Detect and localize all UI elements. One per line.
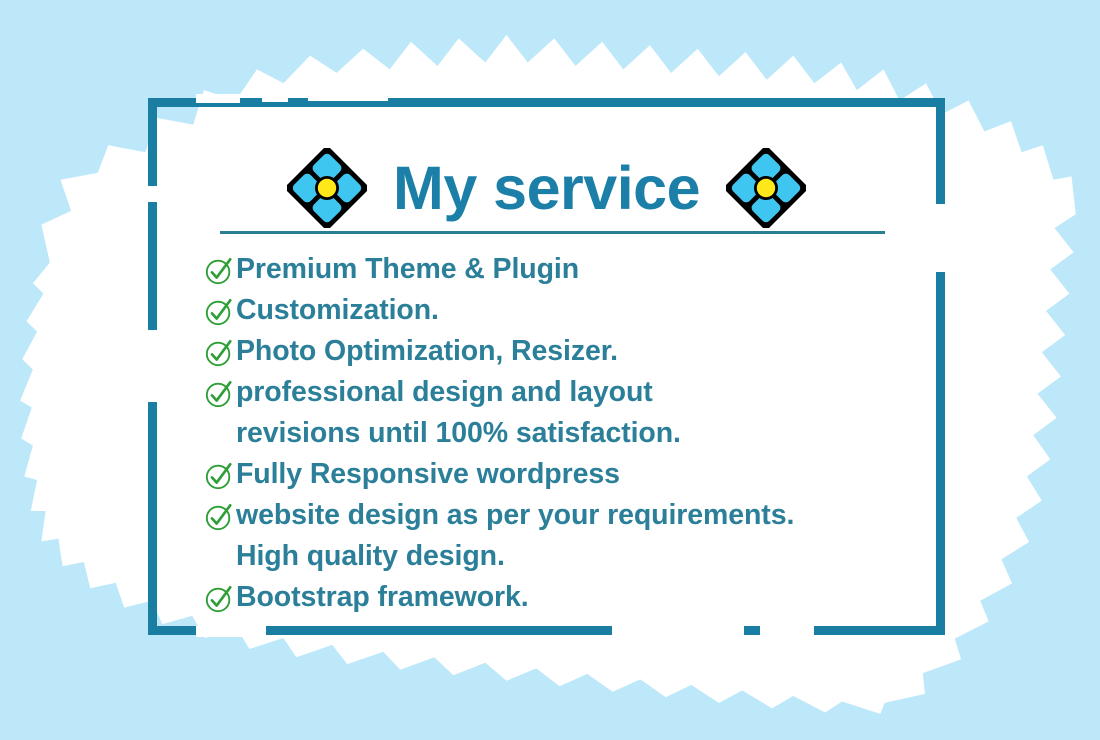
- check-circle-icon: [204, 502, 234, 532]
- list-item-label: Photo Optimization, Resizer.: [236, 331, 618, 372]
- frame-brush-gap: [612, 626, 744, 637]
- check-circle-icon: [204, 584, 234, 614]
- frame-brush-gap: [196, 626, 266, 637]
- list-item-label: professional design and layout revisions…: [236, 372, 681, 454]
- list-item: website design as per your requirements.…: [204, 495, 954, 577]
- list-item-label: website design as per your requirements.…: [236, 495, 794, 577]
- list-item: Customization.: [204, 290, 954, 331]
- check-circle-icon: [204, 461, 234, 491]
- list-item-label: Customization.: [236, 290, 439, 331]
- service-card-canvas: My service Premium Theme & Plugin: [0, 0, 1100, 740]
- header-divider: [220, 231, 885, 234]
- diamond-ornament-icon: [726, 148, 806, 228]
- page-title: My service: [393, 158, 700, 219]
- list-item: Premium Theme & Plugin: [204, 249, 954, 290]
- check-circle-icon: [204, 338, 234, 368]
- check-circle-icon: [204, 379, 234, 409]
- frame-brush-gap: [146, 330, 157, 402]
- frame-brush-gap: [262, 94, 288, 102]
- frame-brush-gap: [308, 94, 388, 101]
- frame-brush-gap: [196, 94, 240, 103]
- list-item-label: Premium Theme & Plugin: [236, 249, 579, 290]
- frame-brush-gap: [760, 626, 814, 637]
- list-item: Bootstrap framework.: [204, 577, 954, 618]
- check-circle-icon: [204, 297, 234, 327]
- diamond-ornament-icon: [287, 148, 367, 228]
- list-item: Photo Optimization, Resizer.: [204, 331, 954, 372]
- list-item-label: Fully Responsive wordpress: [236, 454, 620, 495]
- card-header: My service: [148, 140, 945, 236]
- list-item-label: Bootstrap framework.: [236, 577, 529, 618]
- check-circle-icon: [204, 256, 234, 286]
- list-item: professional design and layout revisions…: [204, 372, 954, 454]
- service-list: Premium Theme & Plugin Customization. Ph…: [204, 249, 954, 618]
- list-item: Fully Responsive wordpress: [204, 454, 954, 495]
